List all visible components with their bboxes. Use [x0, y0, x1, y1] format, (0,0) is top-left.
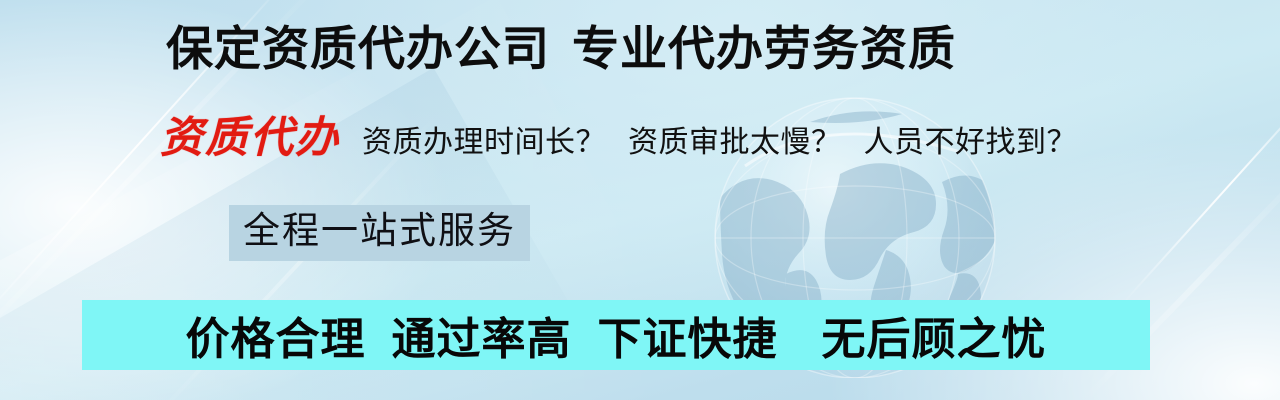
- headline-part-1: 保定资质代办公司: [166, 22, 550, 75]
- headline-part-2: 专业代办劳务资质: [572, 22, 956, 75]
- question-item-3: 人员不好找到？: [864, 117, 1078, 169]
- benefit-item-2: 通过率高: [392, 303, 572, 367]
- benefit-item-4: 无后顾之忧: [822, 303, 1047, 367]
- question-item-1: 资质办理时间长？: [362, 117, 606, 169]
- benefits-bar: 价格合理 通过率高 下证快捷 无后顾之忧: [82, 300, 1150, 370]
- benefit-item-3: 下证快捷: [598, 303, 778, 367]
- banner-headline: 保定资质代办公司专业代办劳务资质: [166, 18, 956, 80]
- red-service-tag: 资质代办: [160, 113, 340, 165]
- questions-row: 资质代办 资质办理时间长？ 资质审批太慢？ 人员不好找到？: [160, 113, 1077, 169]
- service-highlight-row: 全程一站式服务: [229, 205, 530, 261]
- benefit-item-1: 价格合理: [186, 303, 366, 367]
- benefits-list: 价格合理 通过率高 下证快捷 无后顾之忧: [82, 300, 1150, 370]
- light-streak: [1120, 82, 1280, 306]
- service-highlight-text: 全程一站式服务: [229, 205, 530, 261]
- question-item-2: 资质审批太慢？: [628, 117, 842, 169]
- promo-banner: 保定资质代办公司专业代办劳务资质 资质代办 资质办理时间长？ 资质审批太慢？ 人…: [0, 0, 1280, 400]
